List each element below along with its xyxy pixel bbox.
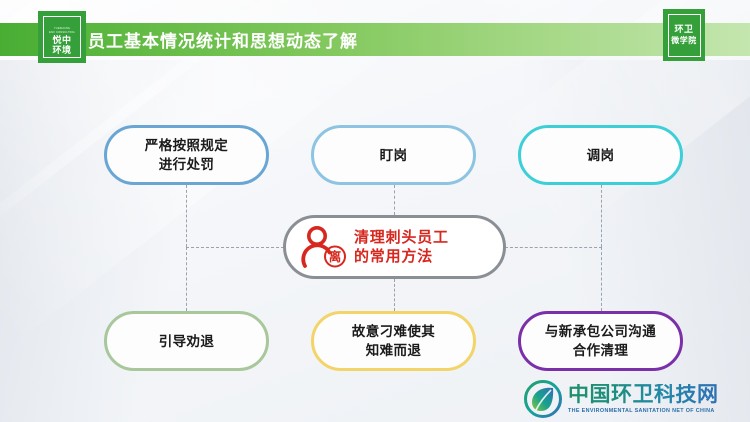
node-line2: 进行处罚 [159, 157, 215, 172]
node-watch-post[interactable]: 盯岗 [311, 125, 476, 185]
node-transfer-post[interactable]: 调岗 [518, 125, 683, 185]
node-line1: 调岗 [587, 148, 615, 163]
academy-badge-line1: 环卫 [674, 24, 693, 35]
node-guided-resignation[interactable]: 引导劝退 [104, 311, 269, 371]
node-label: 故意刁难使其 知难而退 [352, 322, 435, 360]
node-line1: 引导劝退 [159, 334, 215, 349]
node-line1: 故意刁难使其 [352, 324, 435, 339]
node-label: 与新承包公司沟通 合作清理 [545, 322, 656, 360]
center-line2: 的常用方法 [354, 248, 433, 265]
node-label: 调岗 [587, 146, 615, 165]
footer-chinese: 中国环卫科技网 [568, 384, 719, 406]
slide-canvas: YUEZHONG ENV CONSULTING 悦中 环境 员工基本情况统计和思… [0, 0, 750, 422]
company-logo-left-english-line1: YUEZHONG [54, 27, 70, 31]
company-logo-left-frame: YUEZHONG ENV CONSULTING 悦中 环境 [43, 16, 81, 58]
node-strict-punishment[interactable]: 严格按照规定 进行处罚 [104, 125, 269, 185]
person-leave-icon: 离 [300, 225, 348, 269]
node-label: 引导劝退 [159, 332, 215, 351]
node-line1: 严格按照规定 [145, 138, 228, 153]
center-line1: 清理刺头员工 [354, 229, 449, 246]
node-new-contractor-cooperation[interactable]: 与新承包公司沟通 合作清理 [518, 311, 683, 371]
page-title: 员工基本情况统计和思想动态了解 [88, 27, 358, 52]
node-line2: 知难而退 [366, 343, 422, 358]
node-line2: 合作清理 [573, 343, 629, 358]
academy-badge-frame: 环卫 微学院 [668, 14, 701, 57]
icon-inner-label: 离 [329, 249, 342, 264]
node-line1: 与新承包公司沟通 [545, 324, 656, 339]
node-line1: 盯岗 [380, 148, 408, 163]
center-node[interactable]: 离 清理刺头员工 的常用方法 [283, 215, 506, 279]
leaf-globe-icon [524, 380, 562, 418]
node-label: 严格按照规定 进行处罚 [145, 136, 228, 174]
node-deliberate-difficulty[interactable]: 故意刁难使其 知难而退 [311, 311, 476, 371]
company-logo-left: YUEZHONG ENV CONSULTING 悦中 环境 [38, 11, 86, 63]
center-node-label: 清理刺头员工 的常用方法 [354, 228, 449, 266]
academy-badge-right: 环卫 微学院 [663, 9, 705, 61]
footer-english: THE ENVIRONMENTAL SANITATION NET OF CHIN… [568, 407, 719, 415]
footer-watermark-text: 中国环卫科技网 THE ENVIRONMENTAL SANITATION NET… [568, 384, 719, 415]
academy-badge-line2: 微学院 [671, 35, 697, 46]
footer-watermark: 中国环卫科技网 THE ENVIRONMENTAL SANITATION NET… [524, 378, 746, 420]
node-label: 盯岗 [380, 146, 408, 165]
company-logo-left-chinese-line2: 环境 [52, 46, 71, 56]
